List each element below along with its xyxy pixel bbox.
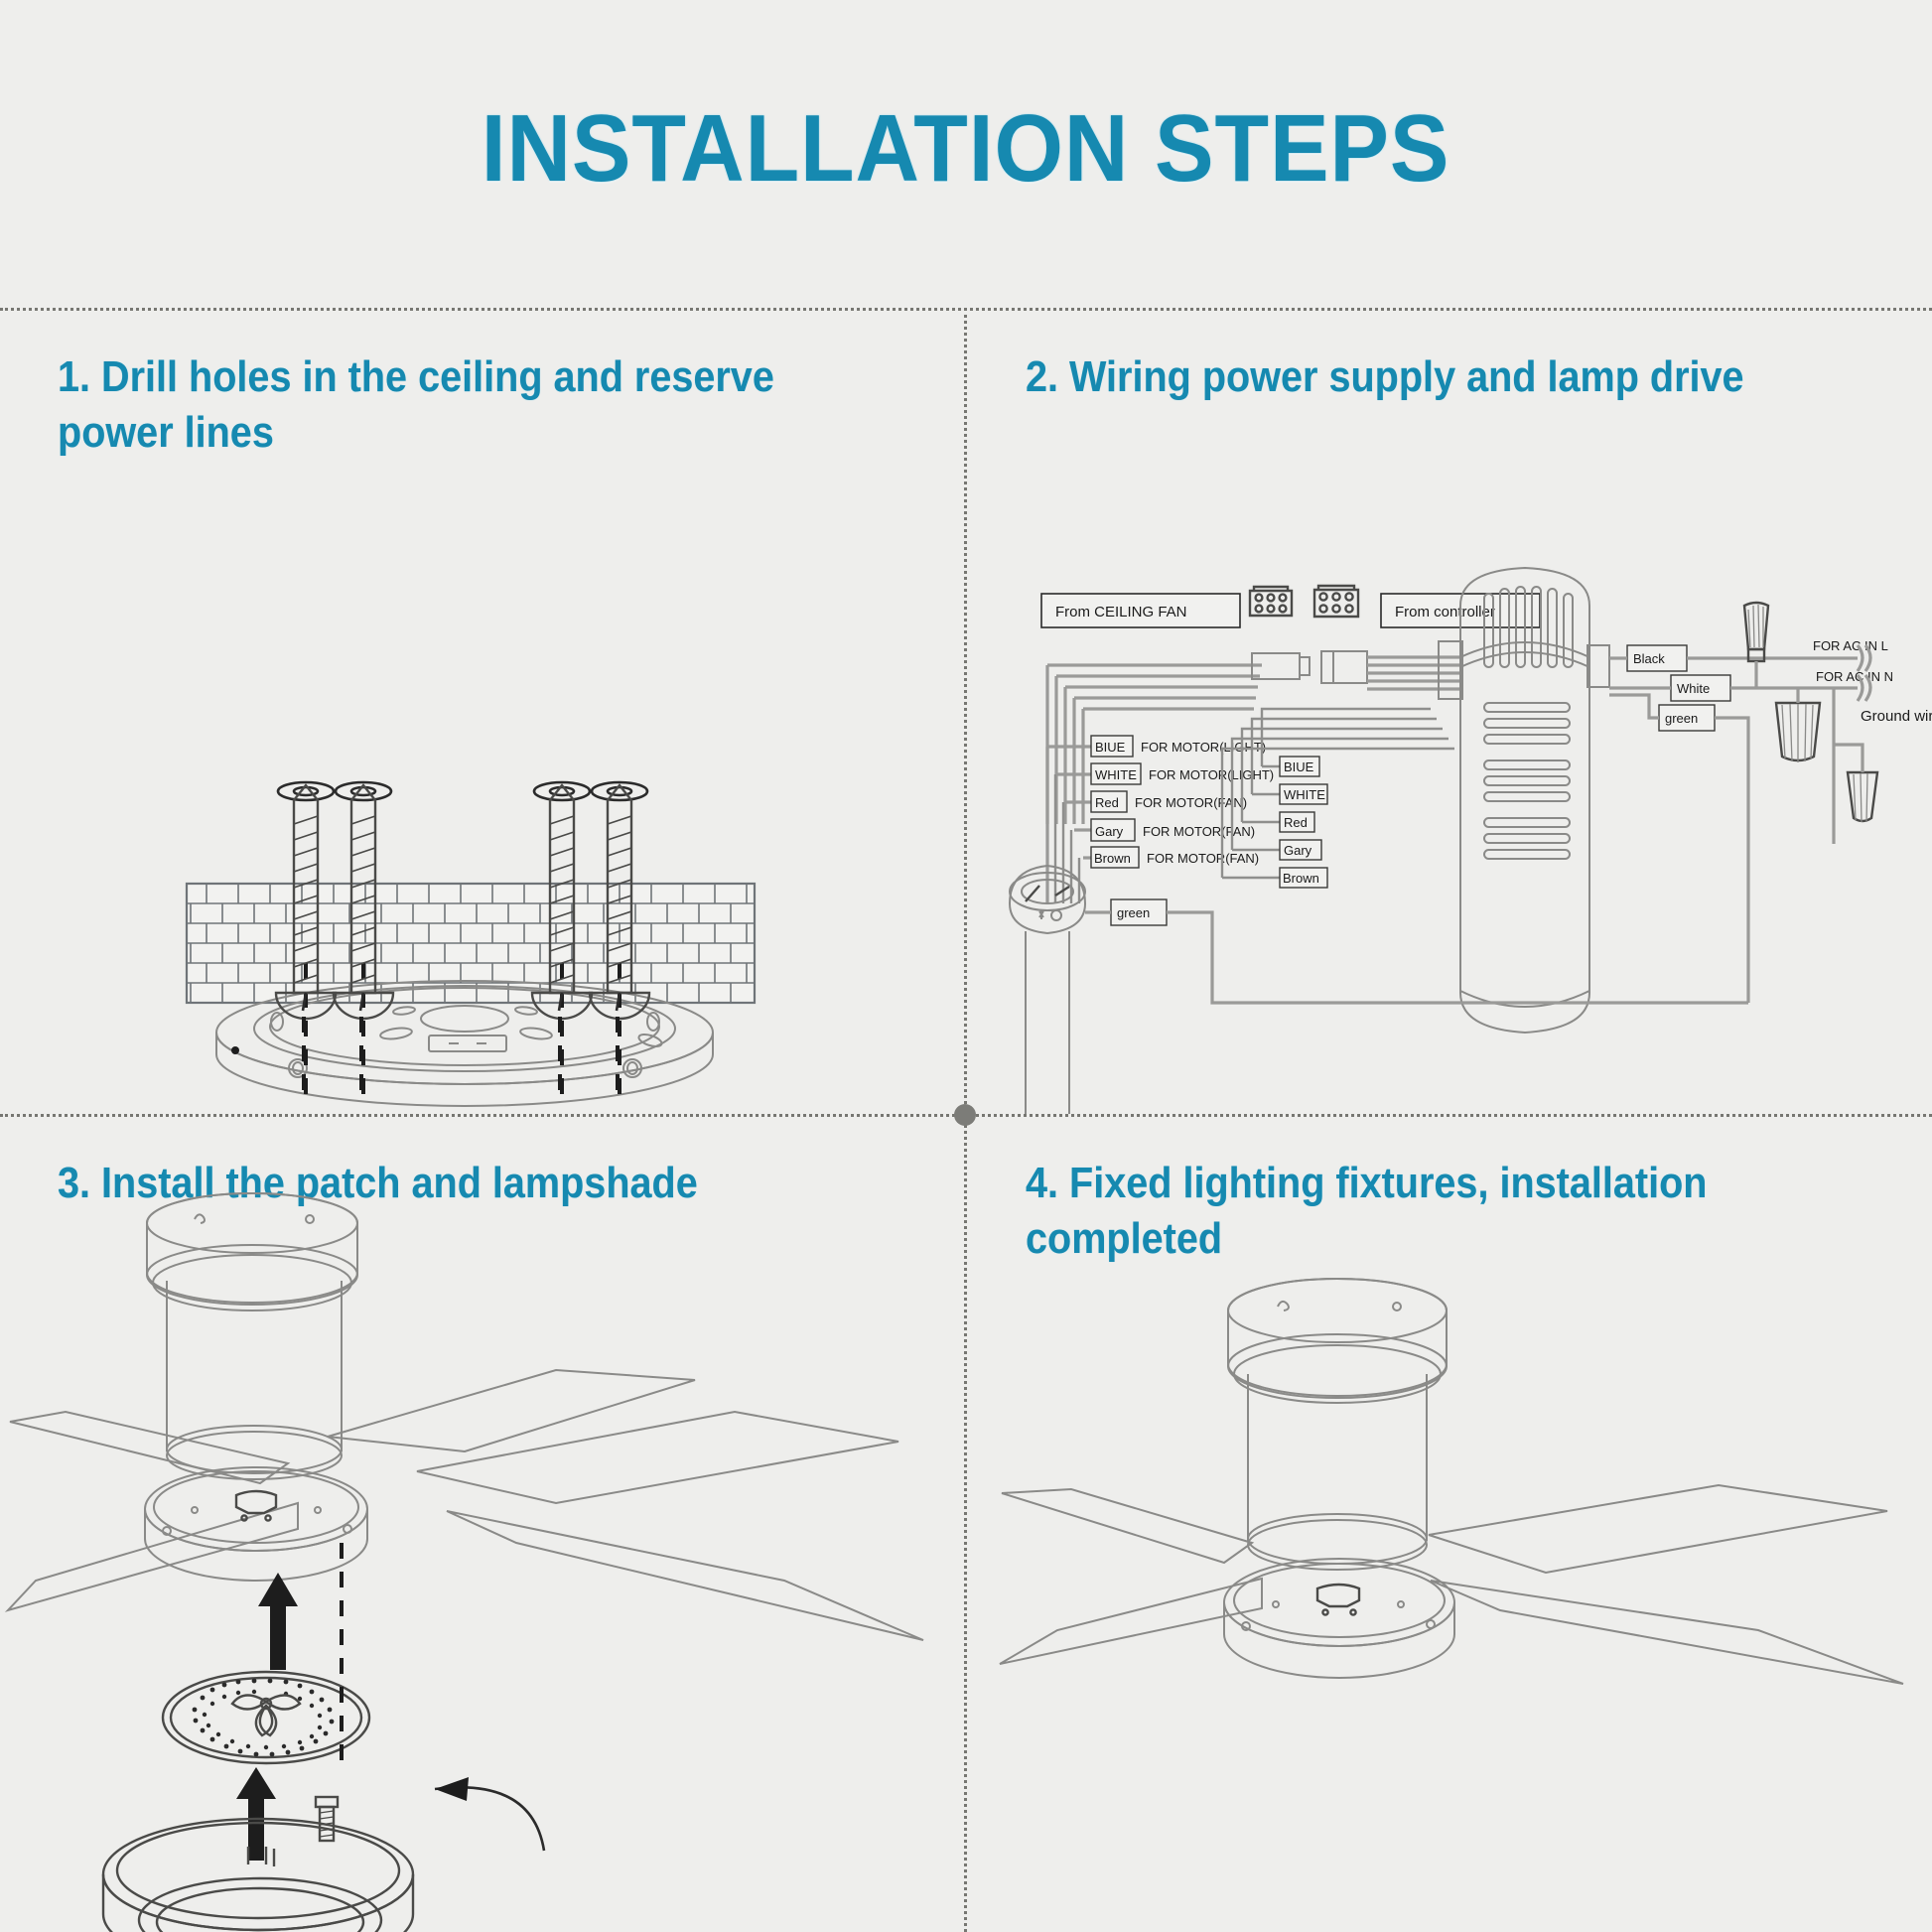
wire-target-label: FOR MOTOR(FAN) (1143, 824, 1255, 839)
black-wire-label: Black (1633, 651, 1665, 666)
page-title: INSTALLATION STEPS (482, 94, 1450, 204)
panel-step-3: 3. Install the patch and lampshade (0, 1114, 964, 1932)
lamp-driver-controller (1439, 568, 1609, 1033)
wire-target-label: FOR MOTOR(LIGHT) (1141, 740, 1266, 755)
wire-target-label: FOR MOTOR(FAN) (1147, 851, 1259, 866)
wire-color-label: BIUE (1095, 740, 1126, 755)
motor-wire-row: Gary FOR MOTOR(FAN) (1091, 819, 1255, 841)
assembly-arrow-up (236, 1767, 276, 1861)
fan-blade (417, 1412, 898, 1503)
fan-blades-group (1000, 1485, 1903, 1684)
panel-step-2: 2. Wiring power supply and lamp drive Fr… (964, 308, 1932, 1114)
controller-wire-labels: BIUE WHITE Red Gary Brown (1280, 757, 1327, 888)
downrod-ground-wire: green (1085, 899, 1748, 1003)
white-wire-label: White (1677, 681, 1710, 696)
screw-dashed-extensions (0, 308, 964, 1114)
wire-target-label: FOR MOTOR(FAN) (1135, 795, 1247, 810)
ground-wire-label: Ground wire (1861, 708, 1932, 725)
from-controller-label: From controller (1395, 604, 1495, 621)
wire-target-label: FOR MOTOR(LIGHT) (1149, 767, 1274, 782)
step-4-illustration (964, 1114, 1932, 1932)
installation-steps-sheet: INSTALLATION STEPS 1. Drill holes in the… (0, 0, 1932, 1932)
wire-nut-icon (1744, 603, 1768, 688)
fan-blade (447, 1511, 923, 1640)
mounting-screw (316, 1797, 338, 1841)
wire-color-label: Red (1095, 795, 1119, 810)
controller-wire-label: Brown (1283, 871, 1319, 886)
green-wire-label: green (1665, 711, 1698, 726)
ac-in-l-label: FOR AC IN L (1813, 638, 1888, 653)
controller-wire-label: Red (1284, 815, 1308, 830)
controller-wire-label: BIUE (1284, 759, 1314, 774)
downrod-ball-joint (1010, 866, 1085, 1114)
step-3-illustration (0, 1114, 964, 1932)
fan-blade (8, 1503, 298, 1610)
fan-blade (1429, 1485, 1887, 1573)
wire-color-label: Gary (1095, 824, 1124, 839)
title-bar: INSTALLATION STEPS (0, 0, 1932, 298)
rotation-arrow-right (435, 1777, 544, 1851)
fan-blade (1431, 1581, 1903, 1684)
wiring-diagram: From CEILING FAN (964, 308, 1932, 1114)
downrod-green-label: green (1117, 905, 1150, 920)
wire-plug-right (1321, 651, 1367, 683)
fan-blade (1002, 1489, 1252, 1563)
motor-wire-labels: BIUE FOR MOTOR(LIGHT) WHITE FOR MOTOR(LI… (1091, 736, 1274, 868)
wire-color-label: WHITE (1095, 767, 1137, 782)
ac-output-wiring: Black White green (1609, 603, 1932, 1003)
controller-wire-label: WHITE (1284, 787, 1325, 802)
controller-wire-label: Gary (1284, 843, 1312, 858)
panel-step-4: 4. Fixed lighting fixtures, installation… (964, 1114, 1932, 1932)
ac-in-n-label: FOR AC IN N (1816, 669, 1893, 684)
fan-blade (328, 1370, 695, 1451)
motor-wire-row: Red FOR MOTOR(FAN) (1091, 791, 1247, 812)
assembly-arrow-up (258, 1573, 298, 1670)
wire-nut-icon (1848, 772, 1877, 822)
pin-connector-icon (1314, 586, 1358, 617)
led-patch-module (163, 1543, 369, 1769)
wire-nut-icon (1776, 688, 1820, 762)
from-ceiling-fan-label: From CEILING FAN (1055, 604, 1187, 621)
motor-hub-disc (145, 1467, 367, 1581)
pin-connector-icon (1250, 587, 1292, 616)
wire-color-label: Brown (1094, 851, 1131, 866)
motor-hub-disc (1224, 1559, 1454, 1678)
panel-step-1: 1. Drill holes in the ceiling and reserv… (0, 308, 964, 1114)
fan-blade (1000, 1579, 1262, 1664)
ceiling-canopy (147, 1193, 357, 1311)
ceiling-canopy (1228, 1279, 1447, 1403)
motor-wire-row: WHITE FOR MOTOR(LIGHT) (1091, 763, 1274, 784)
